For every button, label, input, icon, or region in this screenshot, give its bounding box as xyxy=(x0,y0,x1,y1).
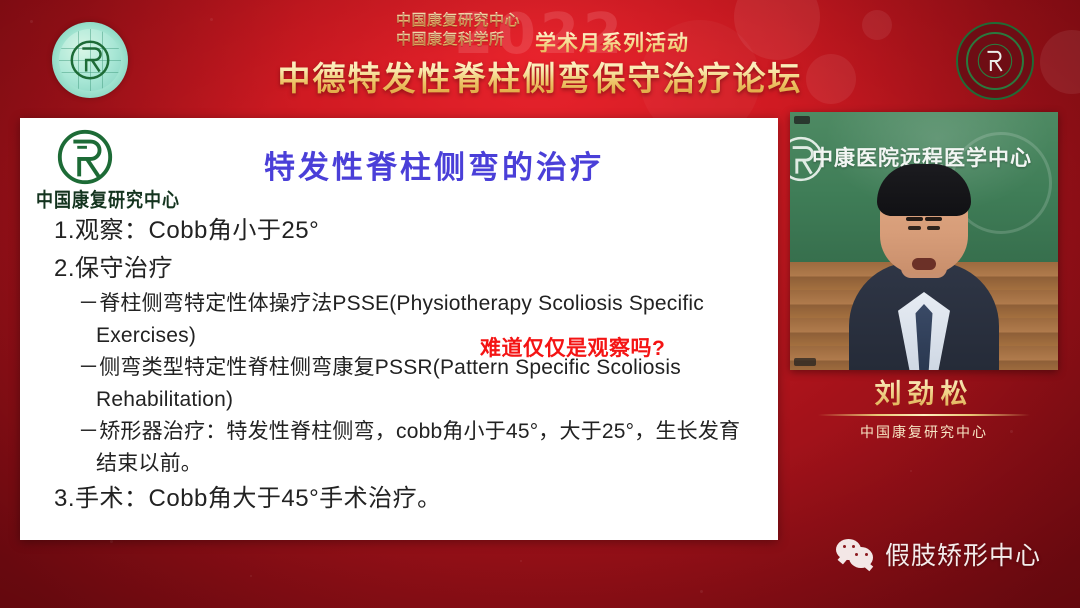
speaker-hair xyxy=(877,164,971,216)
speaker-video-feed[interactable]: 中康医院远程医学中心 xyxy=(790,112,1058,370)
event-header-banner: 2022 中国康复研究中心 中国康复科学所 学术月系列活动 中德特发性脊柱侧弯保… xyxy=(0,0,1080,104)
wechat-watermark: 假肢矫形中心 xyxy=(836,536,1041,572)
speaker-name: 刘劲松 xyxy=(790,372,1058,411)
organizer-names: 中国康复研究中心 中国康复科学所 xyxy=(396,11,520,49)
slide-bullet: －矫形器治疗：特发性脊柱侧弯，cobb角小于45°，大于25°，生长发育结束以前… xyxy=(40,416,760,480)
video-overlay-badge xyxy=(794,358,816,366)
speaker-suit xyxy=(849,262,999,370)
presentation-slide: 中国康复研究中心 特发性脊柱侧弯的治疗 1.观察：Cobb角小于25° 2.保守… xyxy=(20,118,778,540)
speaker-affiliation: 中国康复研究中心 xyxy=(790,422,1058,442)
wechat-icon xyxy=(836,539,876,569)
slide-bullet: 2.保守治疗 xyxy=(40,250,760,288)
cr-monogram-icon xyxy=(63,33,117,87)
presentation-stream: 2022 中国康复研究中心 中国康复科学所 学术月系列活动 中德特发性脊柱侧弯保… xyxy=(0,0,1080,608)
slide-bullet: 1.观察：Cobb角小于25° xyxy=(40,212,760,250)
organizer-line-1: 中国康复研究中心 xyxy=(396,11,520,30)
speaker-figure xyxy=(849,152,999,370)
slide-body: 1.观察：Cobb角小于25° 2.保守治疗 －脊柱侧弯特定性体操疗法PSSE(… xyxy=(40,212,760,518)
slide-logo-text: 中国康复研究中心 xyxy=(36,184,212,212)
institute-emblem-inner xyxy=(966,32,1024,90)
crrc-emblem-icon xyxy=(52,22,128,98)
speaker-name-plate: 刘劲松 中国康复研究中心 xyxy=(790,370,1058,454)
slide-annotation: 难道仅仅是观察吗? xyxy=(480,332,665,362)
event-title: 中德特发性脊柱侧弯保守治疗论坛 xyxy=(278,52,803,100)
institute-emblem-icon xyxy=(956,22,1034,100)
slide-title: 特发性脊柱侧弯的治疗 xyxy=(20,142,778,187)
slide-bullet: 3.手术：Cobb角大于45°手术治疗。 xyxy=(40,480,760,518)
wechat-watermark-text: 假肢矫形中心 xyxy=(885,536,1041,572)
name-plate-divider xyxy=(818,414,1030,416)
video-overlay-badge xyxy=(794,116,810,124)
organizer-line-2: 中国康复科学所 xyxy=(396,30,520,49)
